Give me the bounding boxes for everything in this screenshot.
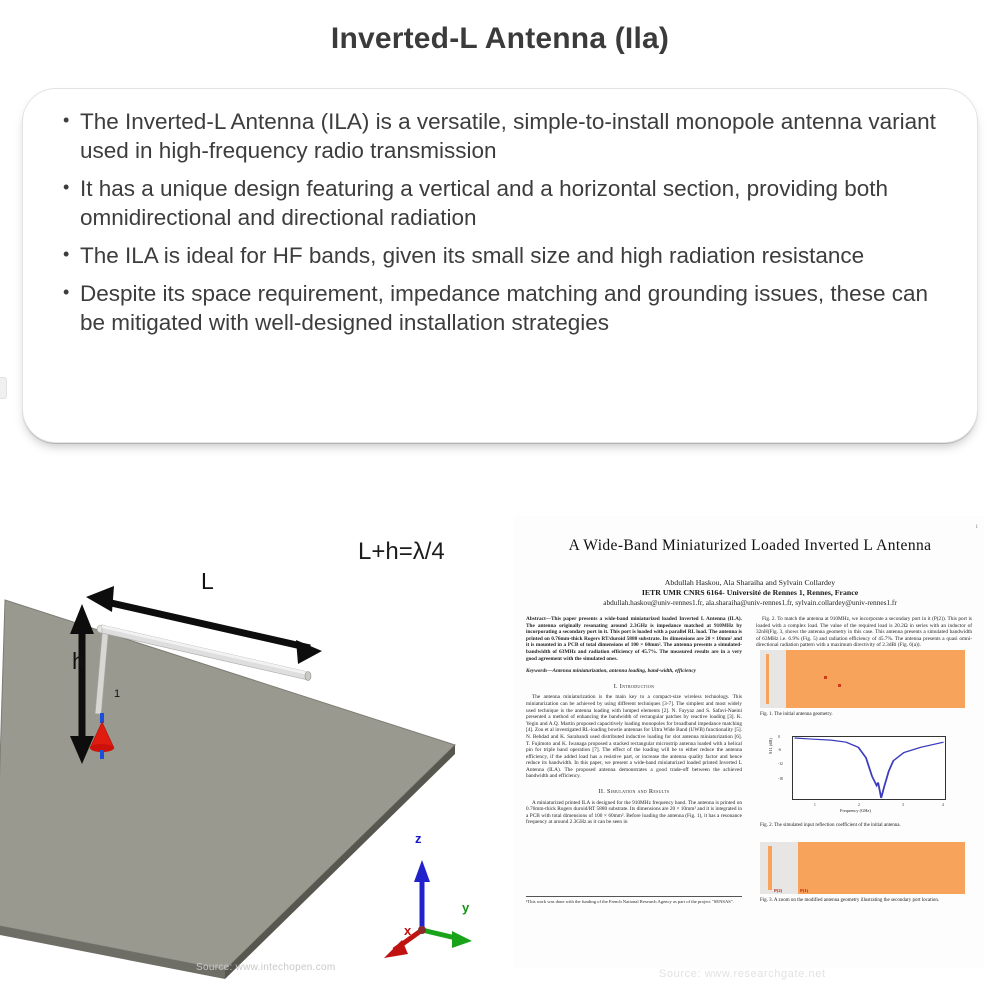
paper-right-column: Fig. 2. To match the antenna at 910MHz, … xyxy=(756,616,972,652)
paper-figure-2: S11 (dB) 0 -6 -12 -18 1 2 3 4 Frequency … xyxy=(766,732,956,816)
axis-label-z: z xyxy=(415,831,422,846)
list-item: The Inverted-L Antenna (ILA) is a versat… xyxy=(63,107,959,165)
label-h: h xyxy=(72,648,85,675)
paper-title: A Wide-Band Miniaturized Loaded Inverted… xyxy=(540,536,960,556)
formula-label: L+h=λ/4 xyxy=(358,538,445,566)
label-L: L xyxy=(201,568,214,595)
pcb-substrate-strip xyxy=(760,650,786,708)
paper-right-text: Fig. 2. To match the antenna at 910MHz, … xyxy=(756,616,972,649)
label-port-1: 1 xyxy=(114,688,120,700)
chart-plot-area xyxy=(792,736,946,800)
axis-label-x: x xyxy=(404,923,411,938)
paper-footnote: ¹This work was done with the funding of … xyxy=(526,896,742,905)
paper-figure-1 xyxy=(760,650,965,708)
pcb-substrate-strip-zoom xyxy=(760,842,798,894)
chart-curve-svg xyxy=(793,737,945,799)
paper-page: 1 A Wide-Band Miniaturized Loaded Invert… xyxy=(514,516,984,968)
pcb-antenna-trace xyxy=(766,654,769,704)
bullet-list: The Inverted-L Antenna (ILA) is a versat… xyxy=(63,107,959,346)
paper-figure: 1 A Wide-Band Miniaturized Loaded Invert… xyxy=(500,512,1000,1000)
page-title: Inverted-L Antenna (Ila) xyxy=(0,22,1000,56)
axis-y-arrow xyxy=(452,931,472,948)
paper-affiliation: IETR UMR CNRS 6164- Université de Rennes… xyxy=(534,588,966,597)
section-heading-1: I. Introduction xyxy=(526,684,742,691)
section-heading-2: II. Simulation and Results xyxy=(526,789,742,796)
pcb-board xyxy=(760,650,965,708)
port-label-1: P(1) xyxy=(800,888,808,893)
axis-triad xyxy=(384,860,472,958)
list-item: It has a unique design featuring a verti… xyxy=(63,174,959,232)
paper-left-column: Abstract—This paper presents a wide-band… xyxy=(526,616,742,829)
antenna-3d-figure: L+h=λ/4 L h 1 0 xyxy=(0,512,500,1000)
source-watermark-left: Source: www.intechopen.com xyxy=(196,962,336,973)
port-marker xyxy=(824,676,827,679)
list-item: Despite its space requirement, impedance… xyxy=(63,279,959,337)
source-watermark-right: Source: www.researchgate.net xyxy=(659,968,826,980)
pcb-antenna-trace-zoom xyxy=(768,846,772,890)
chart-xlabel: Frequency (GHz) xyxy=(840,808,871,813)
port-marker xyxy=(838,684,841,687)
summary-card: The Inverted-L Antenna (ILA) is a versat… xyxy=(22,88,978,443)
label-port-0: 0 xyxy=(308,645,313,655)
paper-sim-text: A miniaturized printed ILA is designed f… xyxy=(526,800,742,826)
paper-emails: abdullah.haskou@univ-rennes1.fr, ala.sha… xyxy=(534,598,966,607)
card-edge-marker xyxy=(0,377,7,399)
paper-keywords: Keywords—Antenna miniaturization, antenn… xyxy=(526,668,742,675)
arrowhead-L-left xyxy=(86,586,114,612)
axis-label-y: y xyxy=(462,900,469,915)
paper-figure-1-caption: Fig. 1. The initial antenna geometry. xyxy=(760,712,965,718)
paper-authors: Abdullah Haskou, Ala Sharaiha and Sylvai… xyxy=(534,578,966,587)
port-label-2: P(2) xyxy=(774,888,782,893)
axis-z-arrow xyxy=(414,860,430,882)
paper-abstract: Abstract—This paper presents a wide-band… xyxy=(526,616,742,662)
paper-figure-2-caption: Fig. 2. The simulated input reflection c… xyxy=(760,823,965,829)
paper-figure-3-caption: Fig. 3. A zoom on the modified antenna g… xyxy=(760,898,965,904)
page-number: 1 xyxy=(976,525,979,530)
arrowhead-h-top xyxy=(70,604,94,634)
chart-ylabel: S11 (dB) xyxy=(768,738,773,754)
paper-figure-3: P(2) P(1) xyxy=(760,842,965,894)
ground-plane-svg xyxy=(0,530,480,980)
page-root: Inverted-L Antenna (Ila) The Inverted-L … xyxy=(0,0,1000,1000)
paper-intro-text: The antenna miniaturization is the main … xyxy=(526,694,742,780)
list-item: The ILA is ideal for HF bands, given its… xyxy=(63,241,959,270)
